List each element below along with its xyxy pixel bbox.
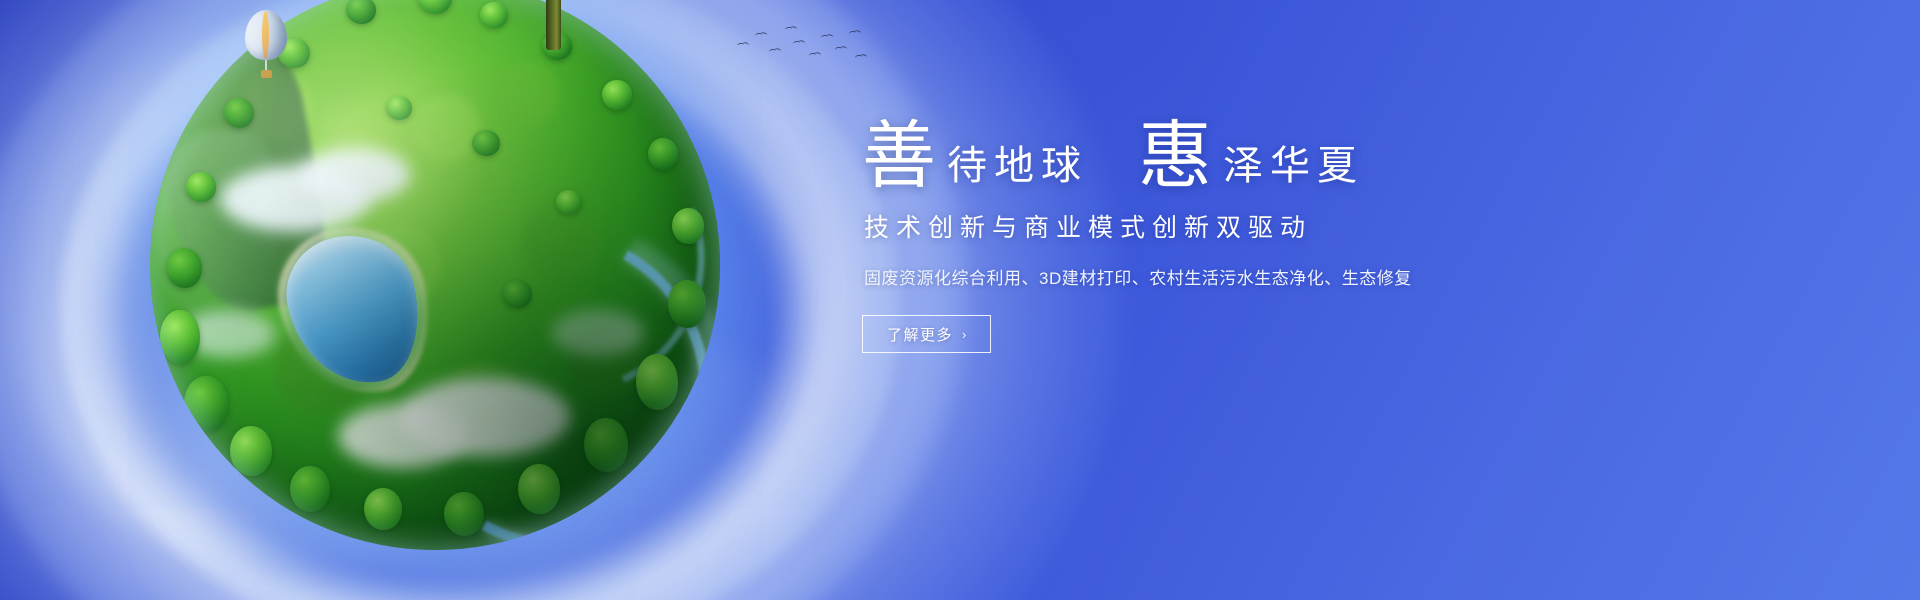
hero-subtitle: 技术创新与商业模式创新双驱动 <box>864 208 1582 244</box>
tree <box>602 80 632 110</box>
hero-headline: 善 待地球 惠 泽华夏 <box>862 120 1582 194</box>
bird <box>737 43 745 49</box>
tree <box>518 464 560 514</box>
bird <box>785 27 793 33</box>
balloon-stripe <box>262 11 269 59</box>
tree <box>166 248 202 288</box>
tree-trunk <box>546 0 561 50</box>
tree <box>672 208 704 244</box>
bird <box>849 31 857 37</box>
tree <box>364 488 402 530</box>
tree <box>584 418 628 472</box>
bird <box>769 49 777 55</box>
tree <box>224 98 254 128</box>
tree <box>444 492 484 536</box>
learn-more-button[interactable]: 了解更多 › <box>862 315 991 353</box>
tree <box>230 426 272 476</box>
bird <box>835 47 843 53</box>
hero-banner: 善 待地球 惠 泽华夏 技术创新与商业模式创新双驱动 固废资源化综合利用、3D建… <box>0 0 1920 600</box>
headline-char-primary-2: 惠 <box>1138 120 1213 194</box>
tree <box>668 280 706 328</box>
learn-more-label: 了解更多 <box>887 324 953 345</box>
tree <box>472 130 500 156</box>
bird <box>821 35 829 41</box>
tree <box>346 0 376 24</box>
tree <box>386 96 412 120</box>
hero-tree <box>450 0 660 50</box>
birds-icon <box>735 25 865 73</box>
tree <box>160 310 200 364</box>
bird <box>809 53 817 59</box>
bird <box>793 41 801 47</box>
tree <box>418 0 452 14</box>
headline-char-primary-1: 善 <box>862 120 937 194</box>
hot-air-balloon-icon <box>245 10 291 86</box>
headline-text-1: 待地球 <box>937 146 1088 194</box>
bird <box>855 55 863 61</box>
globe-illustration <box>150 0 750 580</box>
tree <box>502 280 532 308</box>
rim-tree-ring <box>150 0 720 550</box>
headline-text-2: 泽华夏 <box>1213 146 1364 194</box>
hero-description: 固废资源化综合利用、3D建材打印、农村生活污水生态净化、生态修复 <box>864 264 1582 289</box>
tree <box>290 466 330 512</box>
planet-sphere <box>150 0 720 550</box>
tree <box>556 190 582 214</box>
tree <box>186 172 216 202</box>
hero-text-block: 善 待地球 惠 泽华夏 技术创新与商业模式创新双驱动 固废资源化综合利用、3D建… <box>862 120 1582 353</box>
tree <box>648 138 678 170</box>
tree <box>184 376 228 432</box>
tree <box>636 354 678 410</box>
bird <box>755 33 763 39</box>
balloon-basket <box>261 70 272 78</box>
chevron-right-icon: › <box>962 327 966 342</box>
